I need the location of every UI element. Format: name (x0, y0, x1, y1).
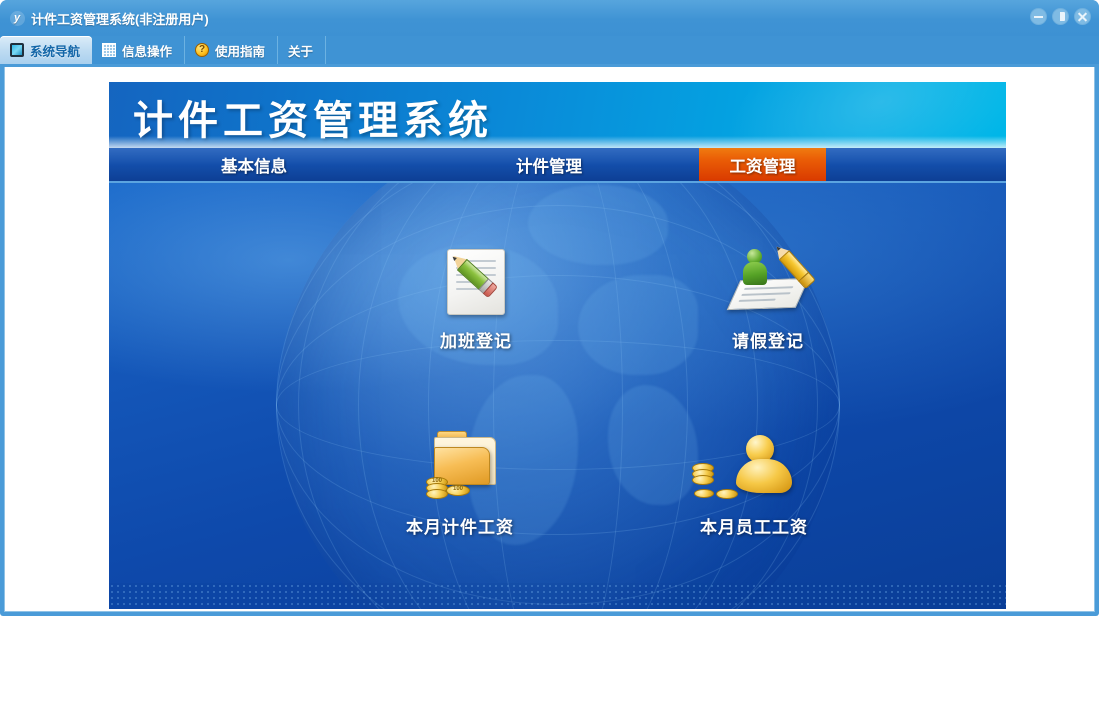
nav-item-label: 基本信息 (221, 153, 287, 177)
main-panel: 计件工资管理系统 基本信息 计件管理 工资管理 (109, 82, 1006, 609)
person-pencil-paper-icon (683, 245, 853, 323)
close-icon[interactable] (1074, 8, 1091, 25)
nav-item-basic-info[interactable]: 基本信息 (109, 148, 399, 181)
gold-person-coins-icon (629, 431, 879, 509)
tile-overtime-registration[interactable]: 加班登记 (391, 245, 561, 352)
navigation-stage: 加班登记 (109, 183, 1006, 609)
tab-information-operation[interactable]: 信息操作 (92, 36, 185, 64)
tile-label: 本月员工工资 (629, 513, 879, 538)
tile-month-employee-salary[interactable]: 本月员工工资 (629, 431, 879, 538)
tab-label: 使用指南 (215, 41, 265, 60)
application-window: y 计件工资管理系统(非注册用户) 系统导航 信息操作 ? 使用指南 关于 (0, 0, 1099, 616)
monitor-icon (10, 43, 24, 57)
window-controls (1030, 8, 1091, 25)
window-title: 计件工资管理系统(非注册用户) (31, 9, 209, 28)
minimize-icon[interactable] (1030, 8, 1047, 25)
nav-item-salary-management[interactable]: 工资管理 (699, 148, 826, 181)
tab-label: 关于 (288, 41, 313, 60)
help-icon: ? (195, 43, 209, 57)
primary-nav: 基本信息 计件管理 工资管理 (109, 148, 1006, 183)
app-logo-icon: y (7, 9, 27, 27)
tab-label: 系统导航 (30, 41, 80, 60)
grid-icon (102, 43, 116, 57)
banner-title: 计件工资管理系统 (133, 88, 493, 146)
nav-spacer (826, 148, 1006, 181)
nav-item-label: 计件管理 (516, 153, 582, 177)
tab-label: 信息操作 (122, 41, 172, 60)
app-banner: 计件工资管理系统 (109, 82, 1006, 148)
tile-label: 加班登记 (391, 327, 561, 352)
client-area: 计件工资管理系统 基本信息 计件管理 工资管理 (4, 67, 1095, 612)
document-pencil-icon (391, 245, 561, 323)
panel-bottom-pattern (109, 583, 1006, 609)
tile-label: 请假登记 (683, 327, 853, 352)
maximize-icon[interactable] (1052, 8, 1069, 25)
tab-about[interactable]: 关于 (278, 36, 326, 64)
tab-strip: 系统导航 信息操作 ? 使用指南 关于 (0, 36, 1099, 64)
nav-item-piecework-management[interactable]: 计件管理 (399, 148, 699, 181)
banner-sheen (696, 82, 1006, 148)
title-bar[interactable]: y 计件工资管理系统(非注册用户) (0, 0, 1099, 36)
tile-month-piecework-salary[interactable]: 100 100 本月计件工资 (335, 431, 585, 538)
folder-coins-icon: 100 100 (335, 431, 585, 509)
tab-user-guide[interactable]: ? 使用指南 (185, 36, 278, 64)
tile-leave-registration[interactable]: 请假登记 (683, 245, 853, 352)
tab-system-navigation[interactable]: 系统导航 (0, 36, 92, 64)
nav-item-label: 工资管理 (730, 153, 796, 177)
tile-label: 本月计件工资 (335, 513, 585, 538)
